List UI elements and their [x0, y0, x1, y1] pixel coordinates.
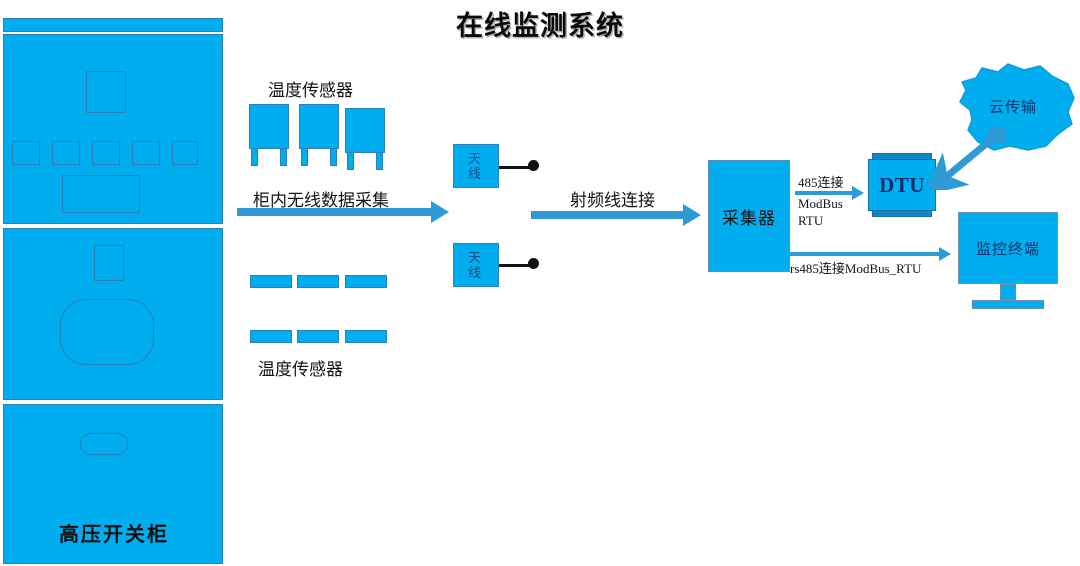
cabinet-indicator-1	[12, 141, 40, 165]
rf-flow-label: 射频线连接	[570, 186, 655, 211]
temperature-probe-2	[299, 104, 339, 166]
rs485-top-label-line2: ModBus	[798, 196, 843, 212]
probe-body	[299, 104, 339, 149]
temperature-bar-1-3	[345, 275, 387, 288]
rs485-top-label-line3: RTU	[798, 213, 823, 229]
temperature-probe-1	[249, 104, 289, 166]
antenna-2-label: 天线	[468, 250, 484, 280]
wireless-arrow-line	[237, 208, 431, 216]
antenna-2-lead	[499, 264, 531, 267]
dtu-cloud-link-arrow	[930, 128, 1006, 190]
temperature-sensor-top-label: 温度传感器	[268, 76, 353, 101]
rf-arrow-head	[683, 204, 701, 226]
rs485-top-arrow-line	[795, 191, 853, 195]
rs485-top-arrow-head	[852, 186, 864, 200]
probe-leg-left	[251, 149, 258, 166]
collector-box[interactable]: 采集器	[708, 160, 790, 272]
cloud-label: 云传输	[950, 96, 1076, 117]
temperature-probe-3	[345, 108, 385, 170]
monitoring-terminal[interactable]: 监控终端	[958, 212, 1058, 316]
cabinet-nameplate	[62, 175, 140, 213]
high-voltage-switchgear-cabinet: 高压开关柜	[3, 18, 225, 564]
monitor-label: 监控终端	[976, 238, 1040, 259]
monitor-screen: 监控终端	[958, 212, 1058, 284]
cabinet-label: 高压开关柜	[4, 518, 224, 547]
rs485-bottom-label: rs485连接ModBus_RTU	[790, 258, 921, 277]
cabinet-indicator-5	[172, 141, 198, 165]
double-arrow-icon	[930, 128, 1006, 190]
temperature-bar-2-1	[250, 330, 292, 343]
cabinet-top-bar	[3, 18, 223, 32]
antenna-box-1[interactable]: 天线	[453, 144, 499, 188]
cabinet-switch-window	[94, 245, 124, 281]
cabinet-indicator-2	[52, 141, 80, 165]
cabinet-breaker-outline	[60, 299, 154, 365]
probe-body	[249, 104, 289, 149]
cabinet-handle	[80, 433, 128, 455]
rs485-bottom-arrow-line	[790, 252, 940, 256]
antenna-1-connector-dot	[528, 160, 539, 171]
rf-arrow-line	[531, 211, 683, 219]
probe-body	[345, 108, 385, 153]
cabinet-indicator-3	[92, 141, 120, 165]
cabinet-lower-panel: 高压开关柜	[3, 404, 223, 564]
probe-leg-right	[376, 153, 383, 170]
cabinet-meter-window	[86, 71, 126, 113]
monitor-base	[972, 300, 1044, 309]
probe-leg-left	[301, 149, 308, 166]
cabinet-indicator-4	[132, 141, 160, 165]
monitor-neck	[1000, 284, 1016, 300]
rs485-top-label-line1: 485连接	[798, 172, 844, 191]
collector-label: 采集器	[722, 204, 776, 229]
temperature-sensor-bottom-label: 温度传感器	[258, 355, 343, 380]
cabinet-middle-panel	[3, 228, 223, 400]
wireless-arrow-head	[431, 201, 449, 223]
probe-leg-right	[330, 149, 337, 166]
temperature-bar-1-2	[297, 275, 339, 288]
dtu-bottom-tab	[872, 210, 932, 217]
dtu-label: DTU	[868, 159, 936, 211]
cabinet-upper-panel	[3, 34, 223, 224]
probe-leg-left	[347, 153, 354, 170]
probe-leg-right	[280, 149, 287, 166]
antenna-1-label: 天线	[468, 151, 484, 181]
antenna-1-lead	[499, 166, 531, 169]
temperature-bar-2-3	[345, 330, 387, 343]
temperature-bar-2-2	[297, 330, 339, 343]
rs485-bottom-arrow-head	[939, 247, 951, 261]
antenna-box-2[interactable]: 天线	[453, 243, 499, 287]
temperature-bar-1-1	[250, 275, 292, 288]
antenna-2-connector-dot	[528, 258, 539, 269]
dtu-device[interactable]: DTU	[868, 153, 936, 217]
